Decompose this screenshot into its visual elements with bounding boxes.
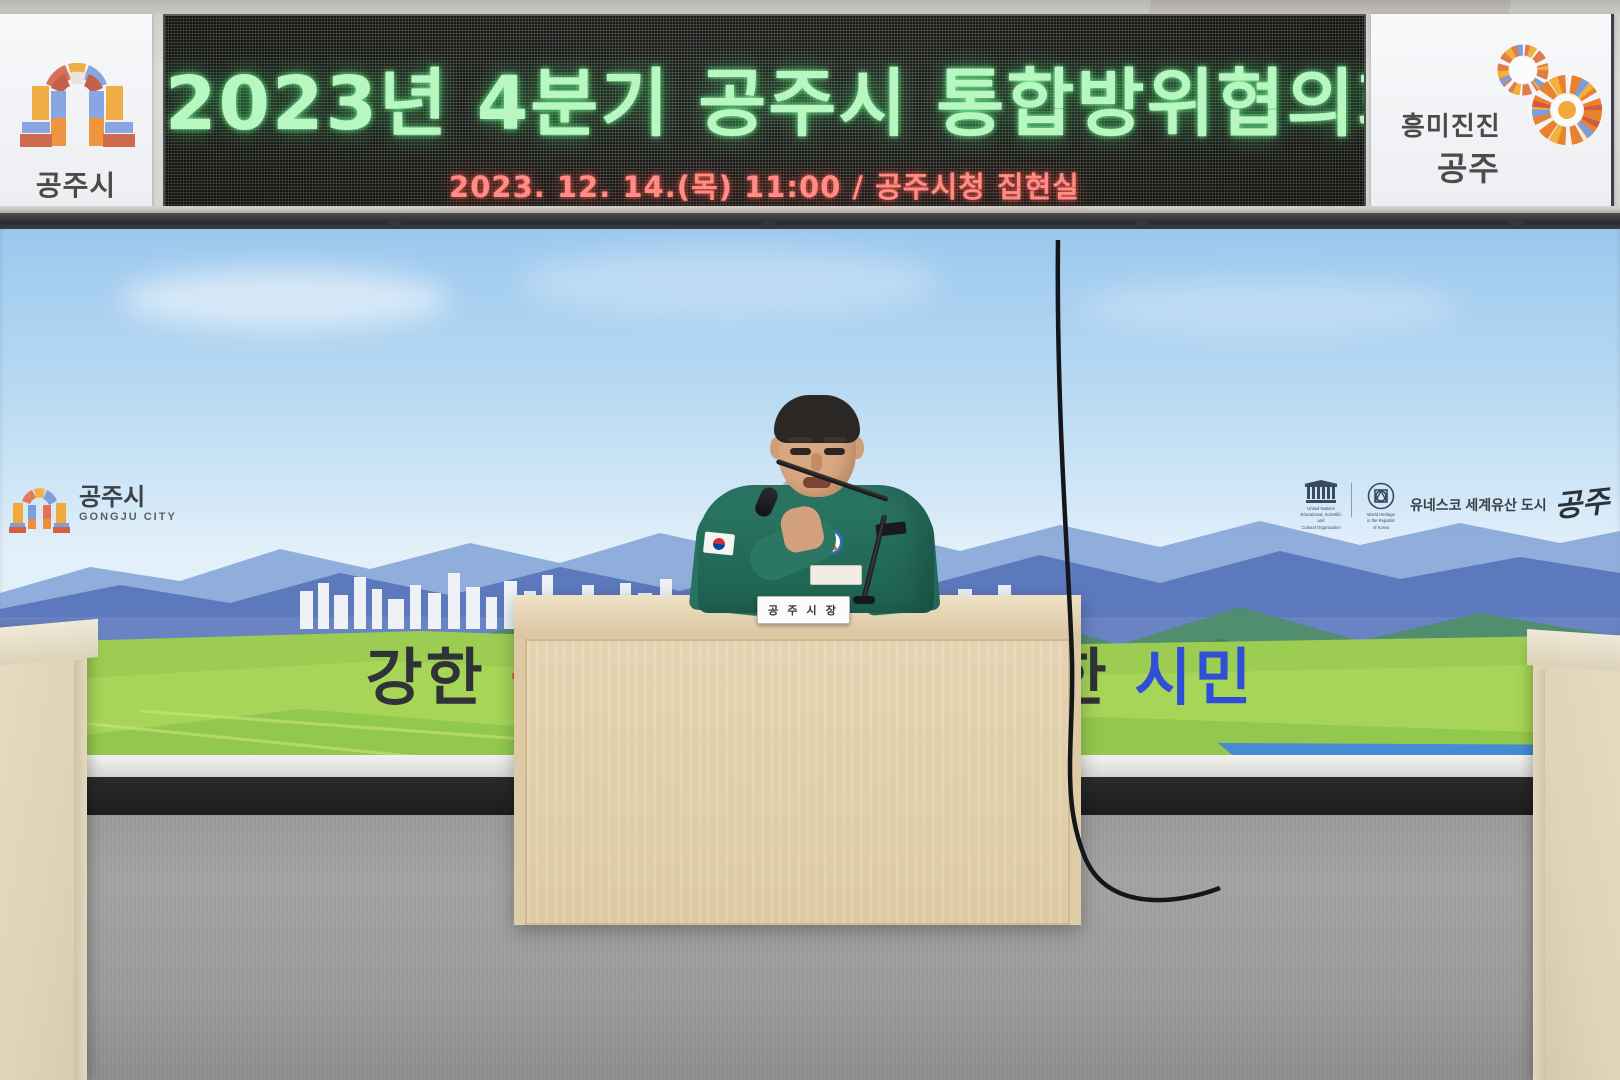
speaker-desk <box>514 595 1081 925</box>
desk-front-panel <box>525 639 1070 925</box>
slogan-left-dark: 강한 <box>366 641 486 714</box>
right-side-desk-top <box>1527 629 1620 672</box>
nameplate-text: 공 주 시 장 <box>768 602 839 618</box>
gongju-calligraphy: 공주 <box>1551 476 1611 526</box>
name-tag <box>810 565 862 585</box>
heritage-sub2: in the Republic <box>1367 518 1395 524</box>
microphone-base <box>853 596 875 604</box>
screenshot-root: 공주시 2023년 4분기 공주시 통합방위협의회 2023. 12. 14.(… <box>0 0 1620 1080</box>
led-subtitle-text: 2023. 12. 14.(목) 11:00 / 공주시청 집현실 <box>165 164 1364 206</box>
right-side-desk <box>1533 642 1620 1080</box>
right-side-desk-edge <box>1533 670 1545 1080</box>
hair <box>774 395 860 443</box>
mural-logo-left-label-en: GONGJU CITY <box>79 511 177 523</box>
gongju-city-arch-icon-small <box>8 475 70 533</box>
world-heritage-emblem-icon <box>1367 482 1395 510</box>
heritage-sub3: of Korea <box>1367 525 1395 531</box>
left-eyebrow <box>788 437 812 442</box>
gongju-city-arch-icon <box>0 28 152 168</box>
ceiling-seam <box>1149 0 1512 14</box>
gongju-city-logo-board: 공주시 <box>0 14 152 213</box>
unesco-sub2: Educational, Scientific and <box>1298 512 1344 525</box>
led-title-text: 2023년 4분기 공주시 통합방위협의회 <box>165 44 1364 151</box>
unesco-temple-icon <box>1304 480 1338 504</box>
cloud <box>120 269 450 329</box>
led-mounting-rail <box>0 213 1620 229</box>
mural-logo-left-label-ko: 공주시 <box>79 485 177 510</box>
board-right-label-bottom: 공주 <box>1371 142 1500 190</box>
right-eye <box>824 448 845 455</box>
desk-nameplate: 공 주 시 장 <box>757 596 850 624</box>
speaker-person <box>690 395 940 610</box>
slogan-right-blue: 시민 <box>1134 641 1254 714</box>
left-side-desk-edge <box>74 660 87 1080</box>
nose <box>811 453 822 471</box>
left-eye <box>790 448 811 455</box>
led-display-panel: 2023년 4분기 공주시 통합방위협의회 2023. 12. 14.(목) 1… <box>163 14 1366 213</box>
cloud <box>520 247 940 317</box>
korean-flag-patch-icon <box>703 531 735 555</box>
mural-unesco-heritage-logo: United Nations Educational, Scientific a… <box>1298 479 1609 531</box>
mural-gongju-city-logo: 공주시 GONGJU CITY <box>8 475 177 533</box>
unesco-sub3: Cultural Organization <box>1298 525 1344 531</box>
unesco-heritage-caption: 유네스코 세계유산 도시 <box>1410 495 1547 515</box>
sunburst-pinwheel-icon <box>1489 42 1609 152</box>
board-left-label: 공주시 <box>0 164 152 204</box>
board-right-label-top: 흥미진진 <box>1371 106 1501 143</box>
right-eyebrow <box>823 437 847 442</box>
cloud <box>1080 279 1460 334</box>
heungmi-jinjin-logo-board: 흥미진진 공주 <box>1371 14 1614 213</box>
